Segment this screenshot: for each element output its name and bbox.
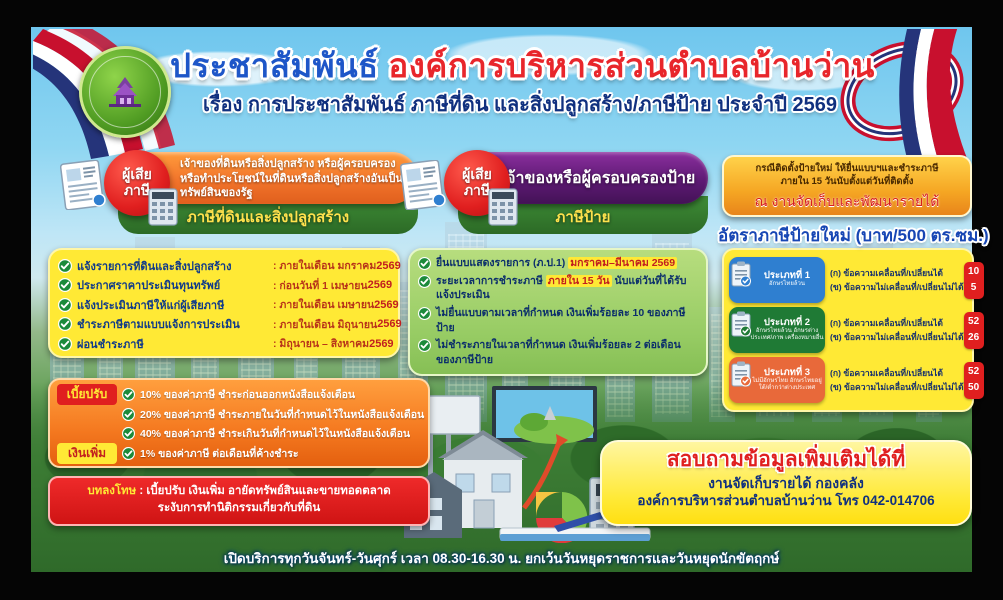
penalty-row: 40% ของค่าภาษี ชำระเกินวันที่กำหนดไว้ในห… [57, 424, 421, 444]
penalty-add-tag: เงินเพิ่ม [57, 443, 117, 464]
rate-desc-a: (ก) ข้อความเคลื่อนที่/เปลี่ยนได้ [830, 366, 964, 380]
title-part-1: ประชาสัมพันธ์ [170, 47, 388, 84]
title-part-2: องค์การบริหารส่วนตำบลบ้านว่าน [388, 47, 874, 84]
rate-table-row: ประเภทที่ 2 อักษรไทยล้วน อักษรต่างประเทศ… [729, 305, 967, 355]
schedule-year: 2569 [369, 338, 393, 350]
punishment-line-1: : เบี้ยปรับ เงินเพิ่ม อายัดทรัพย์สินและข… [136, 485, 390, 497]
rate-type-tag: ประเภทที่ 1 อักษรไทยล้วน [729, 257, 825, 303]
footer-text: เปิดบริการทุกวันจันทร์-วันศุกร์ เวลา 08.… [224, 547, 779, 569]
schedule-period: : ภายในเดือน มกราคม [273, 257, 376, 274]
sign-rule-row: ยื่นแบบแสดงรายการ (ภ.ป.1) มกราคม–มีนาคม … [418, 256, 698, 271]
land-tax-desc-line-3: ทรัพย์สินของรัฐ [180, 186, 408, 201]
rate-type-sub: อักษรไทยล้วน อักษรต่างประเทศ/ภาพ เครื่อง… [749, 328, 825, 342]
sign-tax-owner-label: เจ้าของหรือผู้ครอบครองป้าย [501, 166, 696, 191]
land-tax-category-label: ภาษีที่ดินและสิ่งปลูกสร้าง [187, 205, 349, 229]
notice-line-1: กรณีติดตั้งป้ายใหม่ ให้ยื่นแบบฯและชำระภา… [732, 162, 962, 175]
schedule-row: แจ้งรายการที่ดินและสิ่งปลูกสร้าง : ภายใน… [58, 256, 390, 276]
rate-desc-b: (ข) ข้อความไม่เคลื่อนที่/เปลี่ยนไม่ได้ [830, 280, 964, 294]
check-icon [58, 278, 72, 292]
penalty-row: เบี้ยปรับ 10% ของค่าภาษี ชำระก่อนออกหนัง… [57, 385, 421, 405]
schedule-period: : ภายในเดือน เมษายน [273, 296, 374, 313]
contact-line-1: งานจัดเก็บรายได้ กองคลัง [610, 475, 962, 493]
contact-title: สอบถามข้อมูลเพิ่มเติมได้ที่ [610, 448, 962, 471]
check-icon [58, 259, 72, 273]
land-tax-schedule-card: แจ้งรายการที่ดินและสิ่งปลูกสร้าง : ภายใน… [48, 248, 400, 358]
rate-type-tag: ประเภทที่ 2 อักษรไทยล้วน อักษรต่างประเทศ… [729, 307, 825, 353]
punishment-tag: บทลงโทษ [87, 485, 136, 497]
taxpayer-badge-line1: ผู้เสีย [122, 167, 152, 183]
sign-rule-mark: ภายใน 15 วัน [546, 275, 612, 287]
schedule-period: : ภายในเดือน มิถุนายน [273, 316, 377, 333]
poster-root: ประชาสัมพันธ์ องค์การบริหารส่วนตำบลบ้านว… [0, 0, 1003, 600]
check-icon [58, 298, 72, 312]
sign-rule-text: ไม่ชำระภายในเวลาที่กำหนด เงินเพิ่มร้อยละ… [436, 338, 698, 367]
schedule-year: 2569 [376, 260, 400, 272]
penalty-row: 20% ของค่าภาษี ชำระภายในวันที่กำหนดไว้ใน… [57, 405, 421, 425]
sign-tax-category-label: ภาษีป้าย [556, 205, 611, 229]
schedule-label: ประกาศราคาประเมินทุนทรัพย์ [77, 276, 273, 294]
rate-desc-b: (ข) ข้อความไม่เคลื่อนที่/เปลี่ยนไม่ได้ [830, 330, 964, 344]
punishment-line-2: ระงับการทำนิติกรรมเกี่ยวกับที่ดิน [58, 500, 420, 516]
rate-value-b: 26 [964, 330, 984, 347]
penalty-tag-spacer [57, 413, 117, 415]
rate-descriptions: (ก) ข้อความเคลื่อนที่/เปลี่ยนได้ (ข) ข้อ… [825, 316, 964, 344]
contact-card: สอบถามข้อมูลเพิ่มเติมได้ที่ งานจัดเก็บรา… [600, 440, 972, 526]
document-icon [60, 160, 106, 210]
sign-rule-mark: มกราคม–มีนาคม 2569 [568, 257, 677, 269]
check-icon [418, 275, 431, 288]
calculator-icon [148, 188, 178, 226]
rate-table-row: ประเภทที่ 1 อักษรไทยล้วน (ก) ข้อความเคลื… [729, 255, 967, 305]
taxpayer-badge-sign-line1: ผู้เสีย [462, 167, 492, 183]
rate-desc-a: (ก) ข้อความเคลื่อนที่/เปลี่ยนได้ [830, 316, 964, 330]
sign-rule-row: ระยะเวลาการชำระภาษี ภายใน 15 วัน นับแต่ว… [418, 274, 698, 303]
taxpayer-badge-line2: ภาษี [124, 183, 150, 199]
schedule-year: 2569 [374, 299, 398, 311]
rate-values: 10 5 [964, 262, 984, 299]
land-tax-desc-line-2: หรือทำประโยชน์ในที่ดินหรือสิ่งปลูกสร้างอ… [180, 172, 408, 187]
schedule-year: 2569 [368, 279, 392, 291]
clipboard-icon [731, 261, 751, 287]
rate-type-tag: ประเภทที่ 3 ไม่มีอักษรไทย อักษรไทยอยู่ใต… [729, 357, 825, 403]
rate-type-sub: ไม่มีอักษรไทย อักษรไทยอยู่ใต้/ต่ำกว่าต่า… [749, 378, 825, 392]
check-icon [122, 427, 135, 440]
rate-type-sub: อักษรไทยล้วน [769, 281, 805, 288]
sign-rule-row: ไม่ยื่นแบบตามเวลาที่กำหนด เงินเพิ่มร้อยล… [418, 306, 698, 335]
clipboard-icon [731, 361, 751, 387]
penalty-tag-spacer [57, 433, 117, 435]
schedule-label: ชำระภาษีตามแบบแจ้งการประเมิน [77, 315, 273, 333]
document-icon-sign [400, 160, 446, 210]
new-sign-notice: กรณีติดตั้งป้ายใหม่ ให้ยื่นแบบฯและชำระภา… [722, 155, 972, 217]
sign-rule-row: ไม่ชำระภายในเวลาที่กำหนด เงินเพิ่มร้อยละ… [418, 338, 698, 367]
penalty-row: เงินเพิ่ม 1% ของค่าภาษี ต่อเดือนที่ค้างช… [57, 444, 421, 464]
land-tax-desc-line-1: เจ้าของที่ดินหรือสิ่งปลูกสร้าง หรือผู้คร… [180, 157, 408, 172]
sign-rule-text: ไม่ยื่นแบบตามเวลาที่กำหนด เงินเพิ่มร้อยล… [436, 306, 698, 335]
schedule-row: ผ่อนชำระภาษี : มิถุนายน – สิงหาคม 2569 [58, 334, 390, 354]
rate-desc-a: (ก) ข้อความเคลื่อนที่/เปลี่ยนได้ [830, 266, 964, 280]
sign-tax-rules-card: ยื่นแบบแสดงรายการ (ภ.ป.1) มกราคม–มีนาคม … [408, 248, 708, 376]
check-icon [418, 307, 431, 320]
notice-line-2: ภายใน 15 วันนับตั้งแต่วันที่ติดตั้ง [732, 175, 962, 188]
clipboard-icon [731, 311, 751, 337]
sign-rule-pre: ระยะเวลาการชำระภาษี [436, 275, 546, 287]
schedule-label: แจ้งประเมินภาษีให้แก่ผู้เสียภาษี [77, 296, 273, 314]
calculator-icon-sign [488, 188, 518, 226]
rate-type-name: ประเภทที่ 3 [764, 368, 810, 378]
penalty-text: 20% ของค่าภาษี ชำระภายในวันที่กำหนดไว้ใน… [140, 406, 424, 423]
schedule-label: ผ่อนชำระภาษี [77, 335, 273, 353]
rate-descriptions: (ก) ข้อความเคลื่อนที่/เปลี่ยนได้ (ข) ข้อ… [825, 266, 964, 294]
rate-table-row: ประเภทที่ 3 ไม่มีอักษรไทย อักษรไทยอยู่ใต… [729, 355, 967, 405]
taxpayer-badge-sign-line2: ภาษี [464, 183, 490, 199]
check-icon [58, 337, 72, 351]
check-icon [418, 257, 431, 270]
penalty-text: 40% ของค่าภาษี ชำระเกินวันที่กำหนดไว้ในห… [140, 425, 410, 442]
sign-rule-pre: ยื่นแบบแสดงรายการ (ภ.ป.1) [436, 257, 568, 269]
sign-rate-table: ประเภทที่ 1 อักษรไทยล้วน (ก) ข้อความเคลื… [722, 248, 974, 412]
schedule-period: : มิถุนายน – สิงหาคม [273, 335, 369, 352]
schedule-label: แจ้งรายการที่ดินและสิ่งปลูกสร้าง [77, 257, 273, 275]
rate-values: 52 26 [964, 312, 984, 349]
rate-value-b: 5 [964, 280, 984, 297]
check-icon [58, 317, 72, 331]
penalty-text: 1% ของค่าภาษี ต่อเดือนที่ค้างชำระ [140, 445, 299, 462]
check-icon [418, 339, 431, 352]
notice-highlight: ณ งานจัดเก็บและพัฒนารายได้ [732, 191, 962, 213]
rate-descriptions: (ก) ข้อความเคลื่อนที่/เปลี่ยนได้ (ข) ข้อ… [825, 366, 964, 394]
rate-value-a: 52 [964, 314, 984, 331]
punishment-card: บทลงโทษ : เบี้ยปรับ เงินเพิ่ม อายัดทรัพย… [48, 476, 430, 526]
rate-value-b: 50 [964, 380, 984, 397]
contact-line-2: องค์การบริหารส่วนตำบลบ้านว่าน โทร 042-01… [610, 493, 962, 510]
schedule-row: ชำระภาษีตามแบบแจ้งการประเมิน : ภายในเดือ… [58, 315, 390, 335]
rate-values: 52 50 [964, 362, 984, 399]
schedule-row: ประกาศราคาประเมินทุนทรัพย์ : ก่อนวันที่ … [58, 276, 390, 296]
penalty-card: เบี้ยปรับ 10% ของค่าภาษี ชำระก่อนออกหนัง… [48, 378, 430, 468]
footer-bar: เปิดบริการทุกวันจันทร์-วันศุกร์ เวลา 08.… [31, 544, 972, 572]
subdistrict-seal-icon [79, 46, 171, 138]
page-subtitle: เรื่อง การประชาสัมพันธ์ ภาษีที่ดิน และสิ… [170, 88, 870, 120]
schedule-period: : ก่อนวันที่ 1 เมษายน [273, 277, 368, 294]
rate-type-name: ประเภทที่ 2 [764, 318, 810, 328]
page-title: ประชาสัมพันธ์ องค์การบริหารส่วนตำบลบ้านว… [170, 48, 870, 120]
rate-desc-b: (ข) ข้อความไม่เคลื่อนที่/เปลี่ยนไม่ได้ [830, 380, 964, 394]
schedule-year: 2569 [377, 318, 401, 330]
rate-value-a: 52 [964, 364, 984, 381]
schedule-row: แจ้งประเมินภาษีให้แก่ผู้เสียภาษี : ภายใน… [58, 295, 390, 315]
rate-value-a: 10 [964, 264, 984, 281]
check-icon [122, 388, 135, 401]
penalty-fine-tag: เบี้ยปรับ [57, 384, 117, 405]
check-icon [122, 408, 135, 421]
rate-type-name: ประเภทที่ 1 [764, 271, 810, 281]
rate-table-title: อัตราภาษีป้ายใหม่ (บาท/500 ตร.ซม.) [718, 222, 978, 249]
check-icon [122, 447, 135, 460]
penalty-text: 10% ของค่าภาษี ชำระก่อนออกหนังสือแจ้งเตื… [140, 386, 355, 403]
